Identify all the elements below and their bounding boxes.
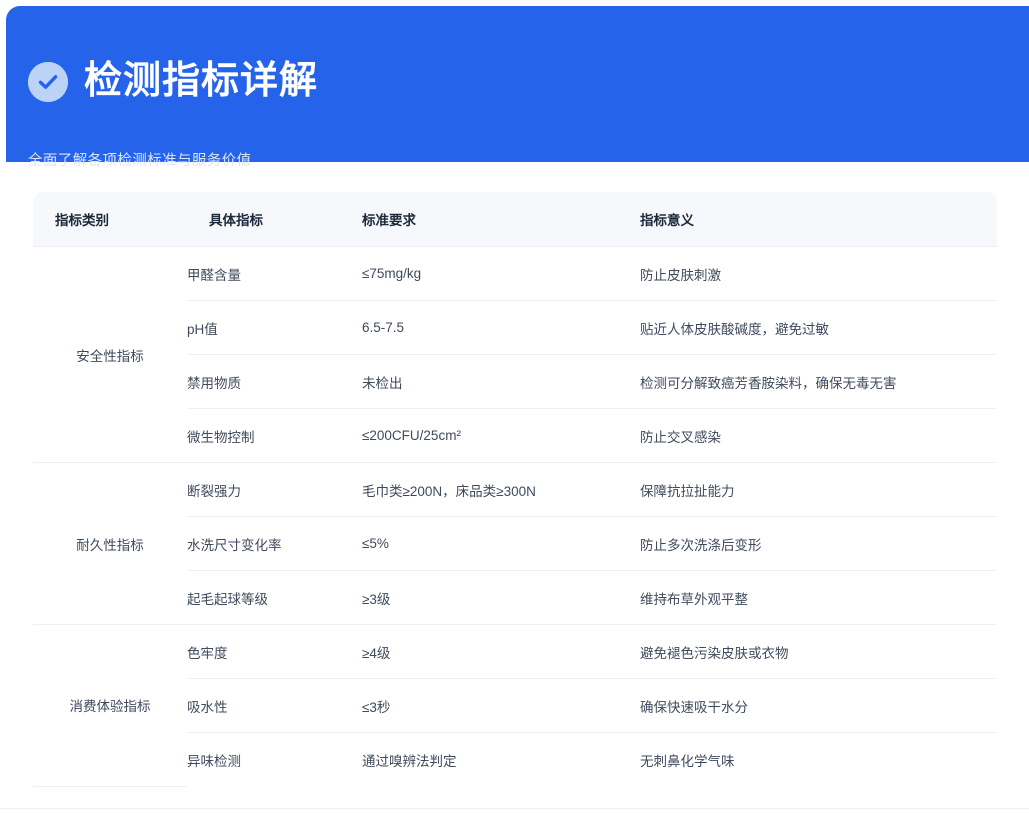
indicator-item: 色牢度 [187,625,362,679]
indicator-meaning: 防止皮肤刺激 [640,247,997,301]
table-header: 指标类别 具体指标 标准要求 指标意义 [33,192,997,247]
indicator-meaning: 避免褪色污染皮肤或衣物 [640,625,997,679]
indicator-standard: 未检出 [362,355,640,409]
category-label-safety: 安全性指标 [33,247,187,463]
indicator-standard: ≤200CFU/25cm² [362,409,640,463]
category-label-experience: 消费体验指标 [33,625,187,787]
indicator-item: 起毛起球等级 [187,571,362,625]
indicator-standard: ≥4级 [362,625,640,679]
indicator-item: 禁用物质 [187,355,362,409]
indicator-standard: ≤5% [362,517,640,571]
indicator-meaning: 检测可分解致癌芳香胺染料，确保无毒无害 [640,355,997,409]
column-header-category: 指标类别 [33,192,187,247]
table-row: 安全性指标 甲醛含量 ≤75mg/kg 防止皮肤刺激 [33,247,997,301]
indicator-meaning: 防止多次洗涤后变形 [640,517,997,571]
column-header-standard: 标准要求 [362,192,640,247]
table-row: 耐久性指标 断裂强力 毛巾类≥200N，床品类≥300N 保障抗拉扯能力 [33,463,997,517]
page-subtitle: 全面了解各项检测标准与服务价值 [28,151,318,171]
table-row: 消费体验指标 色牢度 ≥4级 避免褪色污染皮肤或衣物 [33,625,997,679]
banner-content: 检测指标详解 全面了解各项检测标准与服务价值 [28,36,318,171]
indicator-standard: 毛巾类≥200N，床品类≥300N [362,463,640,517]
indicator-item: 吸水性 [187,679,362,733]
column-header-item: 具体指标 [187,192,362,247]
indicator-meaning: 贴近人体皮肤酸碱度，避免过敏 [640,301,997,355]
indicator-item: 异味检测 [187,733,362,787]
indicator-standard: 6.5-7.5 [362,301,640,355]
indicator-meaning: 维持布草外观平整 [640,571,997,625]
page-header-banner: 检测指标详解 全面了解各项检测标准与服务价值 [6,6,1029,162]
check-circle-icon [28,62,68,102]
table-body: 安全性指标 甲醛含量 ≤75mg/kg 防止皮肤刺激 pH值 6.5-7.5 贴… [33,247,997,787]
category-label-durability: 耐久性指标 [33,463,187,625]
indicator-meaning: 保障抗拉扯能力 [640,463,997,517]
indicator-meaning: 防止交叉感染 [640,409,997,463]
column-header-meaning: 指标意义 [640,192,997,247]
banner-title-row: 检测指标详解 [28,36,318,129]
table-header-row: 指标类别 具体指标 标准要求 指标意义 [33,192,997,247]
indicator-item: 甲醛含量 [187,247,362,301]
indicator-standard: 通过嗅辨法判定 [362,733,640,787]
indicator-standard: ≤75mg/kg [362,247,640,301]
indicator-meaning: 确保快速吸干水分 [640,679,997,733]
indicator-item: 水洗尺寸变化率 [187,517,362,571]
indicator-meaning: 无刺鼻化学气味 [640,733,997,787]
indicator-table: 指标类别 具体指标 标准要求 指标意义 安全性指标 甲醛含量 ≤75mg/kg … [33,192,997,787]
page-bottom-divider [0,808,1029,809]
indicator-table-container: 指标类别 具体指标 标准要求 指标意义 安全性指标 甲醛含量 ≤75mg/kg … [33,192,997,787]
indicator-standard: ≤3秒 [362,679,640,733]
page-title: 检测指标详解 [84,61,318,103]
indicator-standard: ≥3级 [362,571,640,625]
indicator-item: pH值 [187,301,362,355]
indicator-item: 微生物控制 [187,409,362,463]
indicator-item: 断裂强力 [187,463,362,517]
